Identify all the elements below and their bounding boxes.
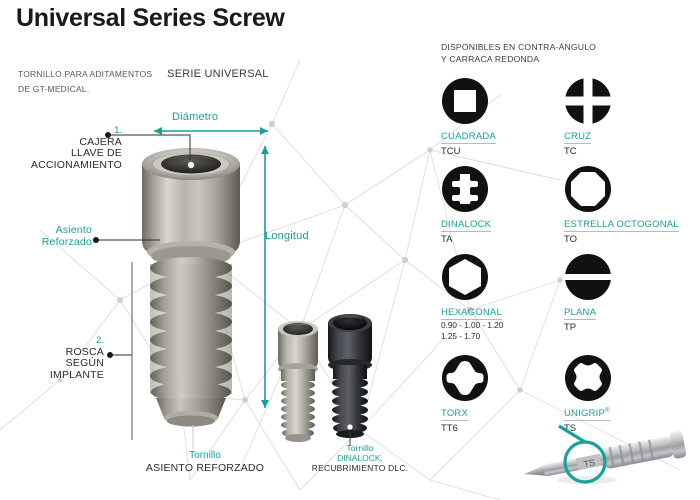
drive-sizes-hexagonal: 0.90 - 1.00 - 1.201.25 - 1.70 <box>441 321 559 342</box>
drive-code-plana: TP <box>564 322 682 333</box>
callout-cajera: 1. CAJERA LLAVE DE ACCIONAMIENTO <box>0 126 122 172</box>
callout-rosca-line3: IMPLANTE <box>0 370 104 382</box>
torx-drive-icon <box>441 353 489 403</box>
caption1-top: Tornillo <box>110 450 300 462</box>
unigrip-superscript: ® <box>605 408 610 414</box>
drive-item-dinalock[interactable]: DINALOCK TA <box>441 164 559 245</box>
callout-asiento: Asiento Reforzado <box>0 225 92 249</box>
length-label: Longitud <box>265 230 309 242</box>
diameter-label: Diámetro <box>172 111 218 123</box>
caption2-mid: DINALOCK. <box>295 453 425 463</box>
drive-item-cruz[interactable]: CRUZ TC <box>564 76 682 157</box>
driver-tool-illustration: TS <box>515 418 700 498</box>
drive-code-cuadrada: TCU <box>441 146 559 157</box>
drive-code-cruz: TC <box>564 146 682 157</box>
drive-code-estrella-octogonal: TO <box>564 234 682 245</box>
drive-item-hexagonal[interactable]: HEXAGONAL 0.90 - 1.00 - 1.201.25 - 1.70 <box>441 252 559 342</box>
driver-marking-text: TS <box>583 457 596 469</box>
callout-asiento-line1: Asiento <box>0 225 92 237</box>
panel-heading-line1: DISPONIBLES EN CONTRA-ÁNGULO <box>441 41 596 53</box>
drive-name-dinalock: DINALOCK <box>441 219 491 232</box>
caption2-bottom: RECUBRIMIENTO DLC. <box>295 463 425 473</box>
drive-name-estrella-octogonal: ESTRELLA OCTOGONAL <box>564 219 679 232</box>
diameter-arrow <box>146 124 276 138</box>
unigrip-drive-icon <box>564 353 612 403</box>
hexagon-drive-icon <box>441 252 489 302</box>
drive-item-plana[interactable]: PLANA TP <box>564 252 682 333</box>
callout-asiento-line2: Reforzado <box>0 237 92 249</box>
drive-name-plana: PLANA <box>564 307 596 320</box>
slot-drive-icon <box>564 252 612 302</box>
infographic-canvas: Universal Series Screw TORNILLO PARA ADI… <box>0 0 700 500</box>
panel-heading-line2: Y CARRACA REDONDA <box>441 53 596 65</box>
caption1-bottom: ASIENTO REFORZADO <box>110 462 300 475</box>
caption-dinalock: Tornillo DINALOCK. RECUBRIMIENTO DLC. <box>295 443 425 474</box>
drive-name-cruz: CRUZ <box>564 131 591 144</box>
drive-name-torx: TORX <box>441 408 468 421</box>
drive-name-cuadrada: CUADRADA <box>441 131 496 144</box>
octagon-drive-icon <box>564 164 612 214</box>
drive-code-dinalock: TA <box>441 234 559 245</box>
callout-rosca: 2. ROSCA SEGÚN IMPLANTE <box>0 336 104 382</box>
square-drive-icon <box>441 76 489 126</box>
caption-asiento-reforzado: Tornillo ASIENTO REFORZADO <box>110 450 300 475</box>
drive-item-cuadrada[interactable]: CUADRADA TCU <box>441 76 559 157</box>
caption2-top: Tornillo <box>295 443 425 453</box>
hex-sizes-text: 0.90 - 1.00 - 1.201.25 - 1.70 <box>441 321 503 341</box>
cross-drive-icon <box>564 76 612 126</box>
drive-item-estrella-octogonal[interactable]: ESTRELLA OCTOGONAL TO <box>564 164 682 245</box>
dinalock-drive-icon <box>441 164 489 214</box>
panel-heading: DISPONIBLES EN CONTRA-ÁNGULO Y CARRACA R… <box>441 41 596 66</box>
drive-name-hexagonal: HEXAGONAL <box>441 307 502 320</box>
callout-cajera-line3: ACCIONAMIENTO <box>0 160 122 172</box>
length-arrow <box>258 138 272 416</box>
